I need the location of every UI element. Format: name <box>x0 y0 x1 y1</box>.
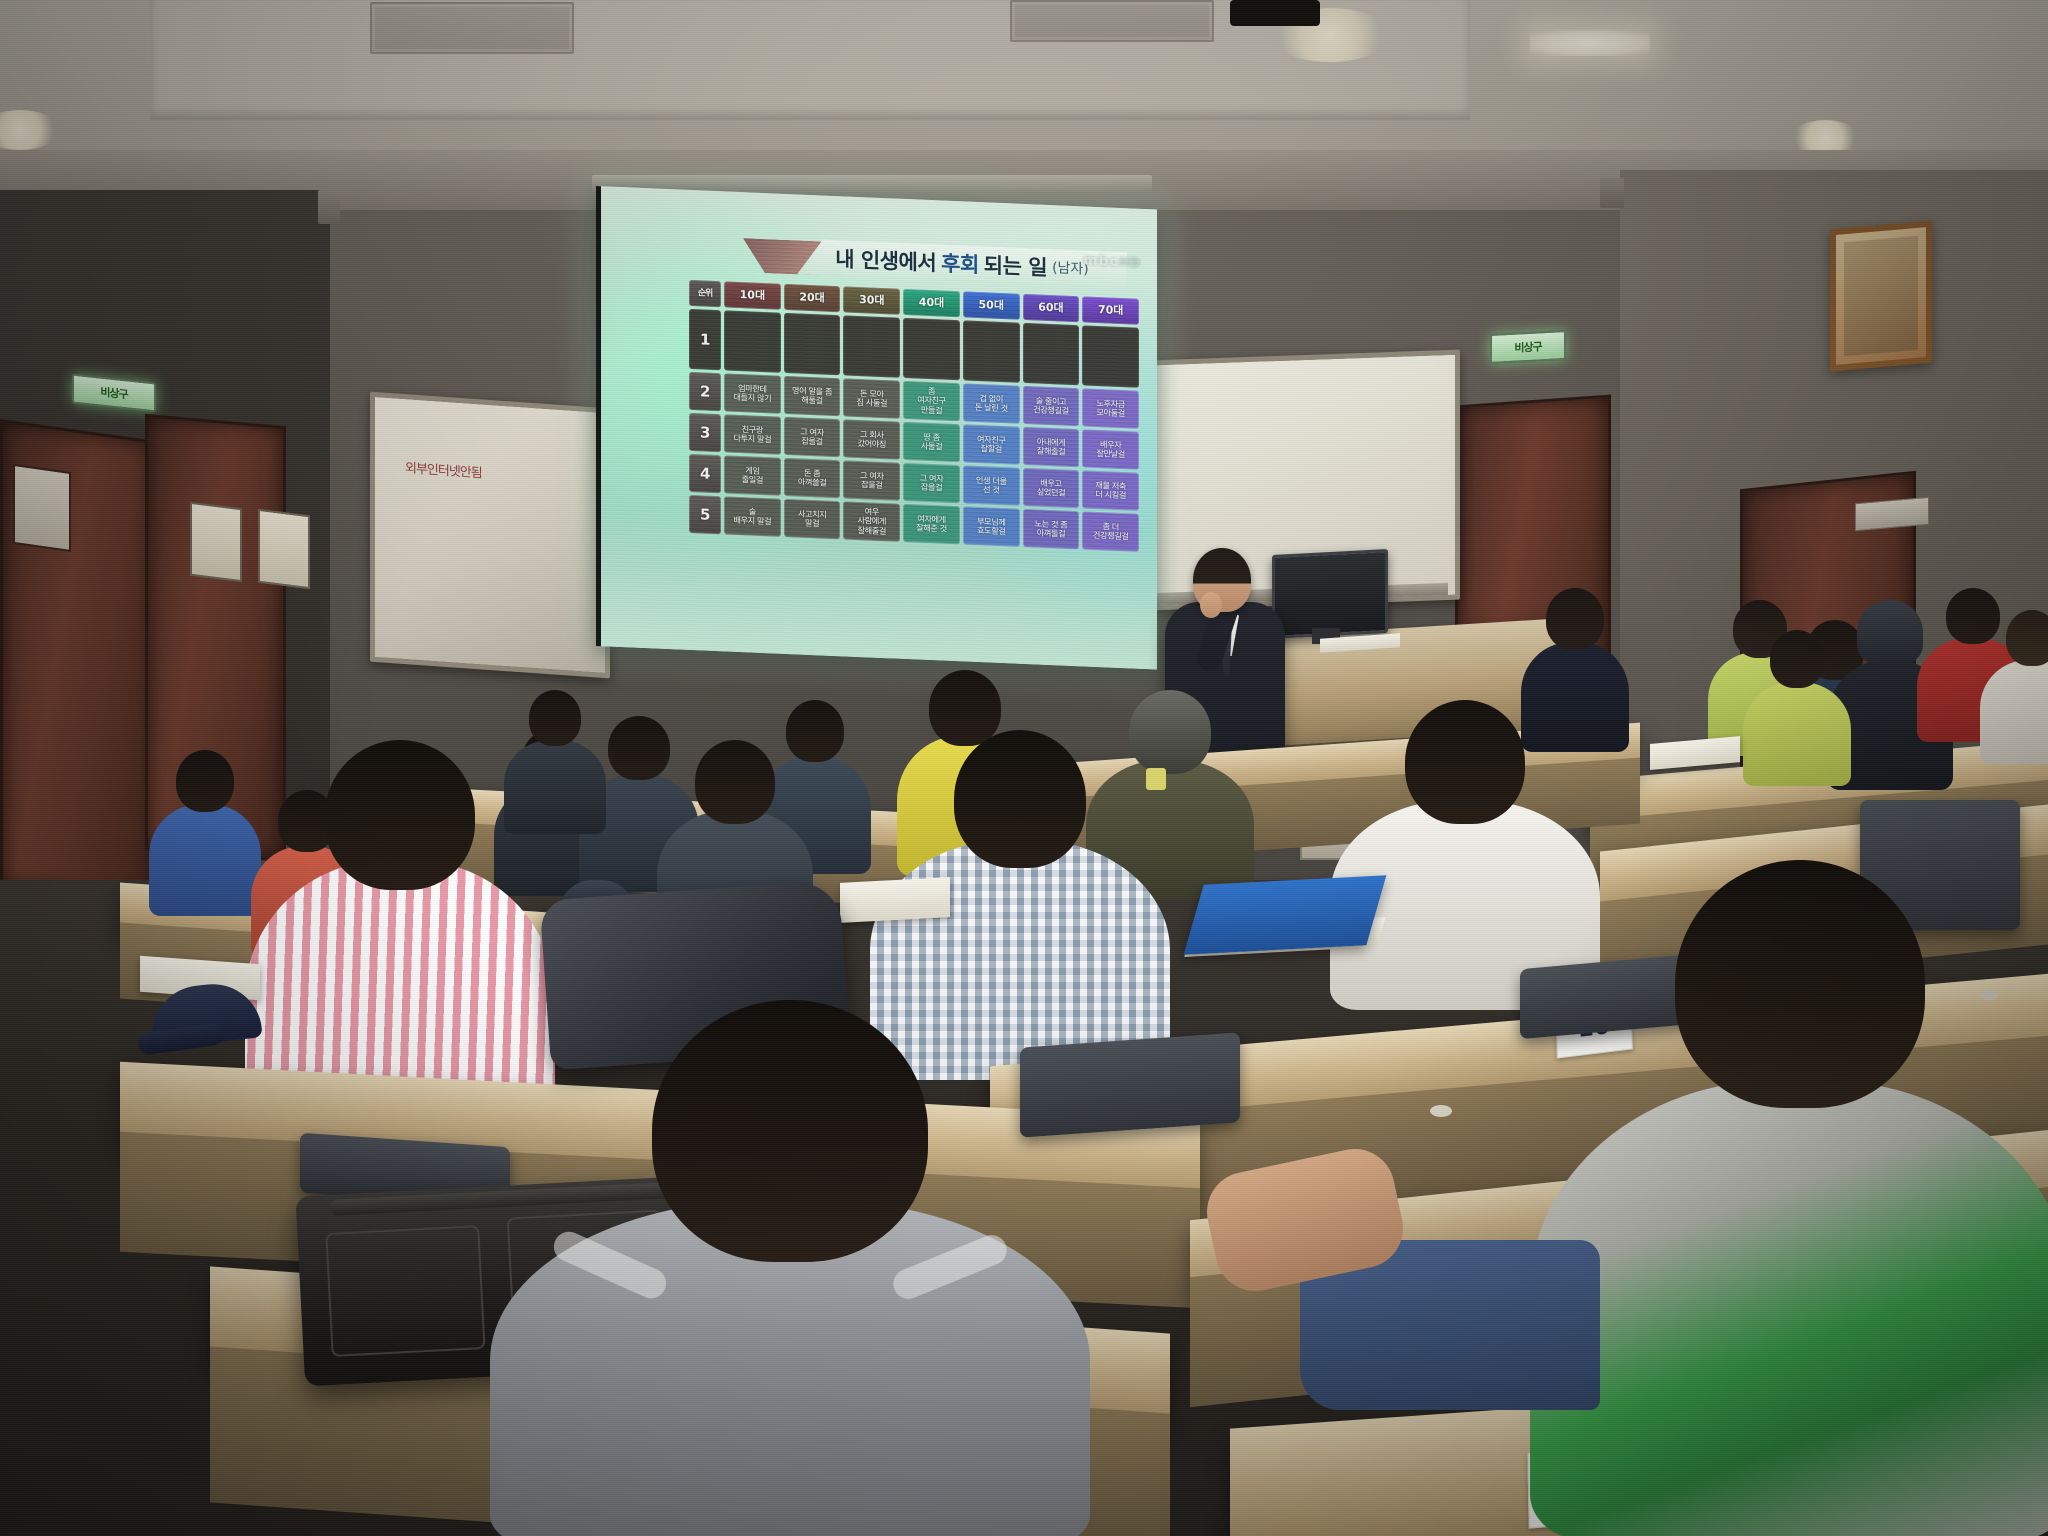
student-pink-stripe-head <box>325 740 475 890</box>
bag-pocket-left <box>325 1225 485 1357</box>
student-white-tee-head <box>1405 700 1525 824</box>
ceiling-light-panel <box>1530 30 1650 56</box>
door-poster-1 <box>190 502 242 582</box>
door-poster-2 <box>258 509 310 589</box>
student-back-6 <box>1742 630 1852 780</box>
exit-sign-right-label: 비상구 <box>1514 338 1541 355</box>
student-mid-4-head <box>695 740 775 824</box>
student-back-5-head <box>2006 610 2048 666</box>
student-foreground-green <box>1540 860 2048 1536</box>
student-blue-left-head <box>176 750 234 812</box>
student-foreground-green-body <box>1530 1080 2048 1536</box>
left-notice-board: 외부인터넷안됨 <box>370 392 610 679</box>
ceiling-vent-right <box>1010 0 1214 42</box>
ceiling-projector <box>1230 0 1320 26</box>
exit-sign-left-label: 비상구 <box>100 384 127 403</box>
wall-bracket <box>1600 178 1624 208</box>
student-back-6-body <box>1743 682 1851 786</box>
wall-picture-frame <box>1830 221 1932 372</box>
student-back-cap-hat <box>1857 600 1923 664</box>
wall-speaker <box>318 190 340 224</box>
student-blue-left-body <box>149 804 261 916</box>
student-mid-5-head <box>529 690 581 746</box>
door-left-window <box>13 464 71 552</box>
ceiling-vent-left <box>370 2 574 54</box>
student-back-5-body <box>1980 660 2048 764</box>
podium-monitor <box>1272 549 1388 639</box>
student-back-1-head <box>1546 588 1604 650</box>
presenter-hand <box>1200 592 1222 618</box>
wall-picture-inner <box>1844 236 1918 356</box>
student-foreground-green-head <box>1675 860 1925 1108</box>
projection-screen: 내 인생에서 후회 되는 일 (남자) 순위10대20대30대40대50대60대… <box>596 186 1157 670</box>
student-check-shirt-head <box>954 730 1086 868</box>
exit-sign-right: 비상구 <box>1490 330 1566 364</box>
desk-grommet <box>1430 1105 1452 1117</box>
student-foreground-grey-head <box>652 1000 928 1262</box>
student-foreground-grey <box>490 1000 1090 1536</box>
lecture-hall-photo: 비상구 비상구 외부인터넷안됨 내 인생에서 후회 되는 일 (남자) <box>0 0 2048 1536</box>
door-left-panel[interactable] <box>0 419 156 907</box>
left-notice-board-text: 외부인터넷안됨 <box>405 457 575 485</box>
student-back-6-head <box>1770 630 1824 688</box>
blue-folder <box>1184 875 1387 954</box>
student-back-5 <box>1982 610 2048 760</box>
projection-scanlines <box>601 186 1157 669</box>
notebook-on-desk-1 <box>840 877 950 923</box>
student-blue-left <box>150 750 260 910</box>
